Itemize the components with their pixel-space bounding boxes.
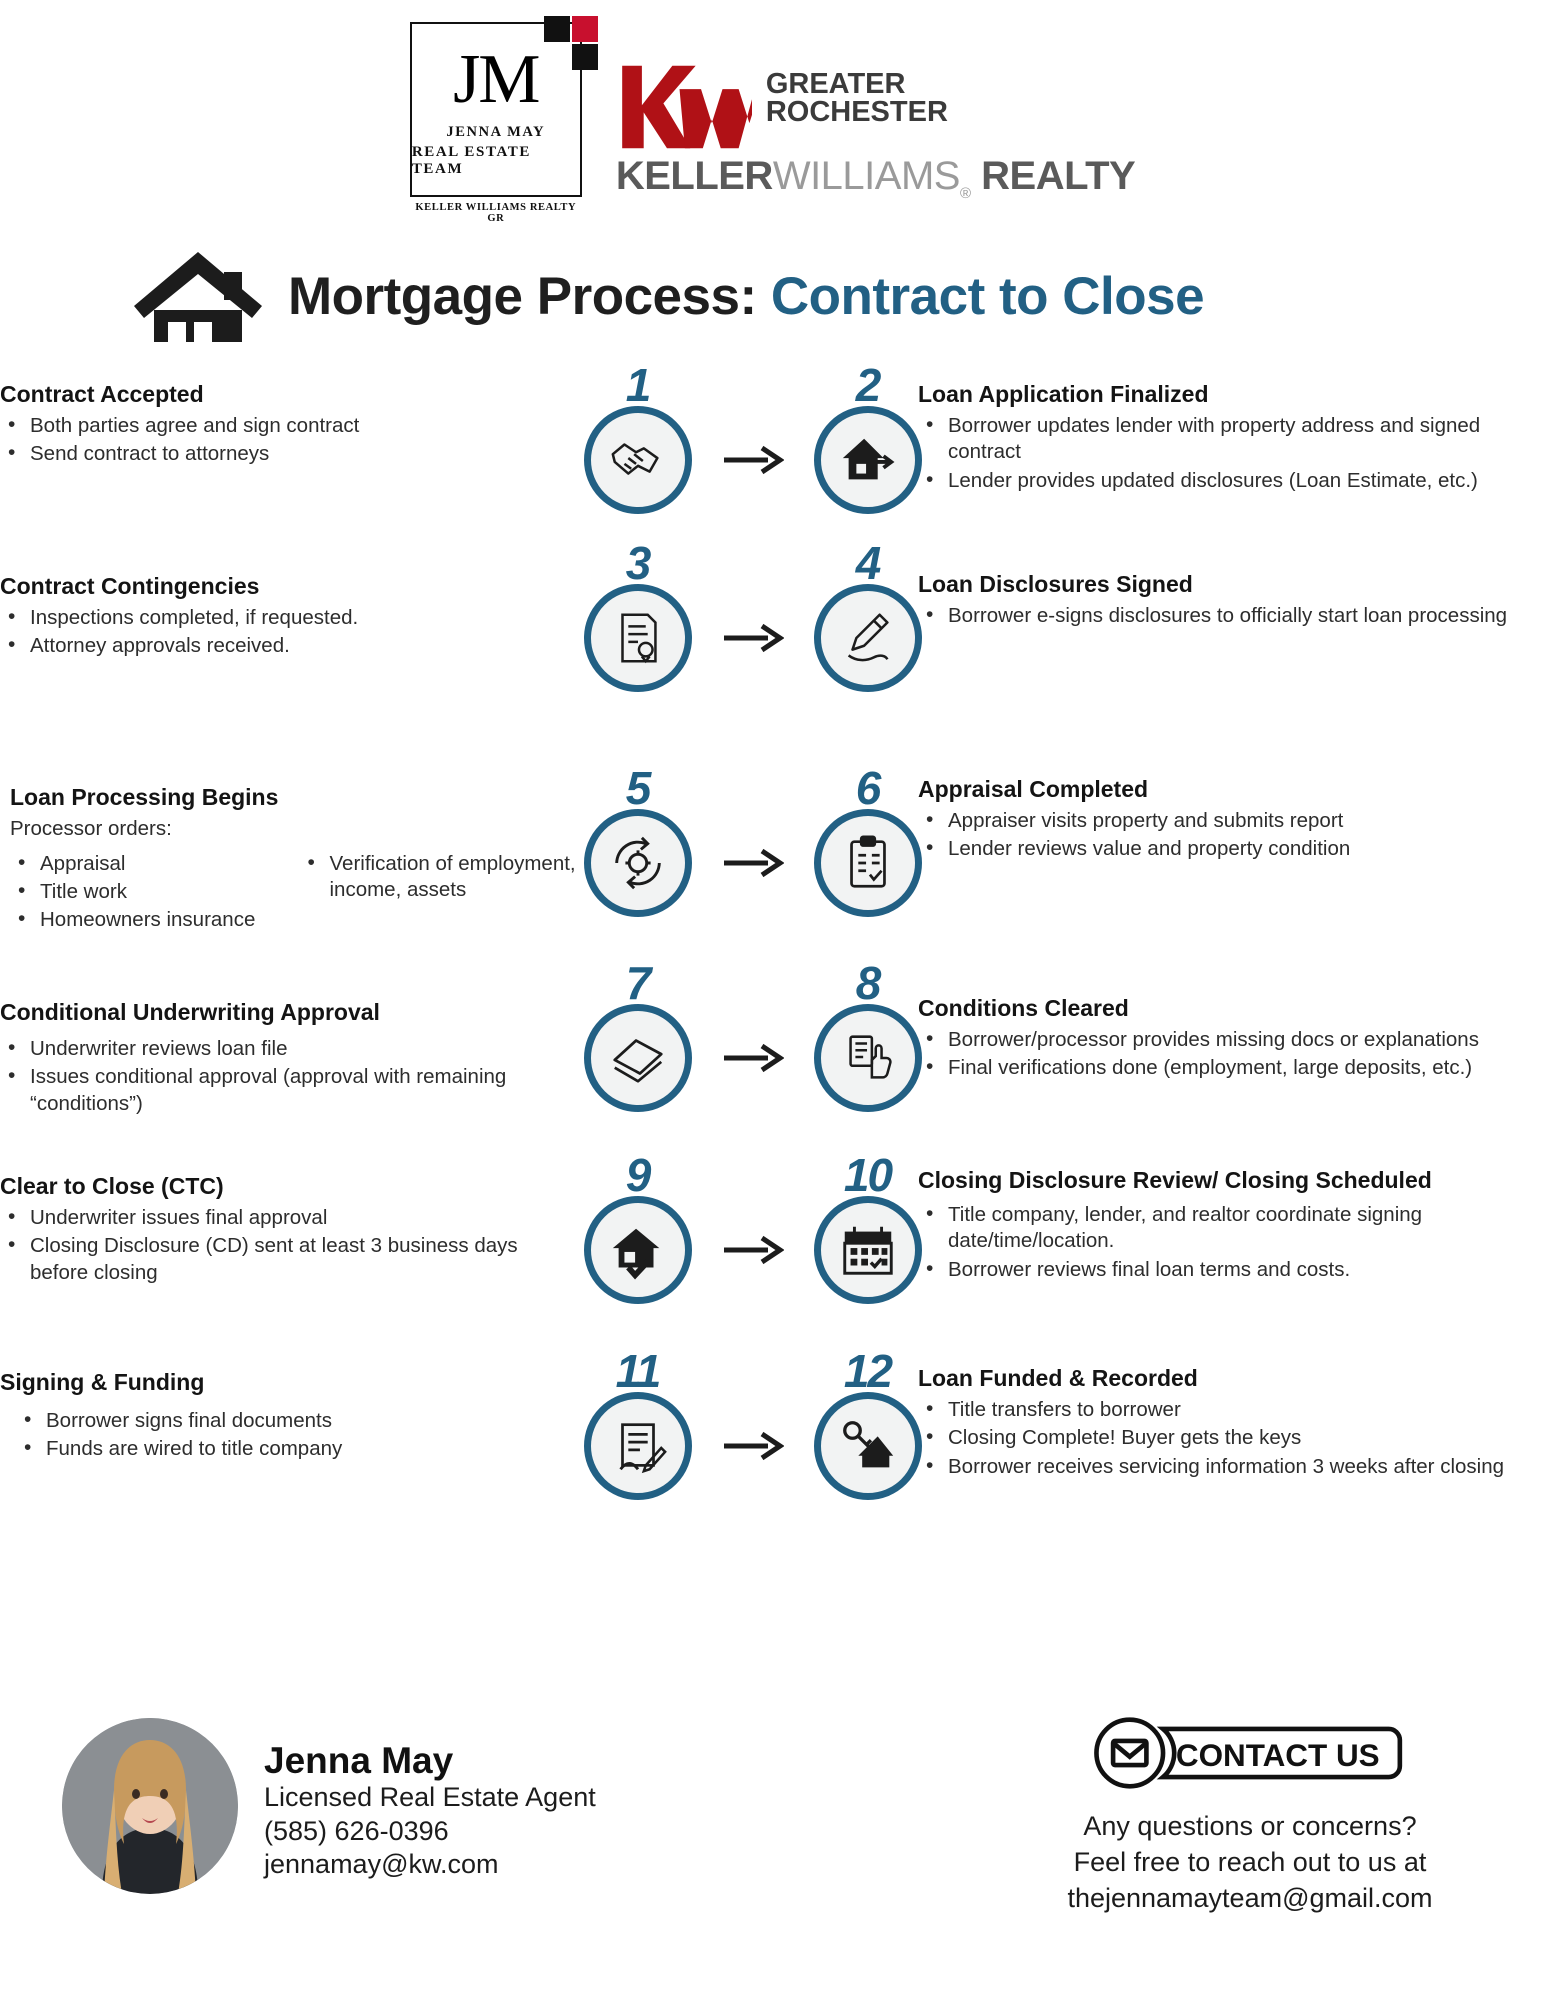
step-4-text-body: Borrower e-signs disclosures to official… [918,603,1545,629]
contact-email[interactable]: thejennamayteam@gmail.com [1015,1880,1485,1916]
step-number-9: 9 [584,1148,692,1202]
list-item: Attorney approvals received. [0,633,579,659]
list-item: Closing Complete! Buyer gets the keys [918,1425,1545,1451]
arrow-right-icon [722,1041,784,1075]
kw-registered-icon: ® [960,185,971,202]
step-row-6: Signing & Funding Borrower signs final d… [0,1350,1545,1530]
step-icons-3-4: 3 4 [595,540,910,718]
calendar-check-icon [814,1196,922,1304]
jm-logo-box: JM JENNA MAY REAL ESTATE TEAM [410,22,582,197]
logo-square-black-top [544,16,570,42]
house-arrow-icon [814,406,922,514]
clipboard-check-icon [814,809,922,917]
header-logos: JM JENNA MAY REAL ESTATE TEAM KELLER WIL… [0,22,1545,212]
step-node-10[interactable]: 10 [814,1196,922,1304]
step-icons-1-2: 1 2 [595,380,910,540]
step-11-text: Signing & Funding Borrower signs final d… [0,1350,595,1465]
step-7-heading: Conditional Underwriting Approval [0,998,579,1026]
list-item: Borrower e-signs disclosures to official… [918,603,1545,629]
contact-block: CONTACT US Any questions or concerns? Fe… [1015,1716,1485,1917]
step-5-text: Loan Processing Begins Processor orders:… [0,745,595,935]
page-title: Mortgage Process: Contract to Close [288,266,1204,327]
list-item: Title transfers to borrower [918,1397,1545,1423]
step-icons-7-8: 7 8 [595,950,910,1138]
list-item: Title work [10,879,290,905]
jm-monogram: JM [453,47,538,114]
step-node-3[interactable]: 3 [584,584,692,692]
list-item: Issues conditional approval (approval wi… [0,1064,579,1116]
step-12-text: Loan Funded & Recorded Title transfers t… [910,1350,1545,1482]
step-6-bullets: Appraiser visits property and submits re… [918,808,1545,862]
jm-logo-name: JENNA MAY [446,124,545,141]
list-item: Both parties agree and sign contract [0,413,579,439]
step-6-text: Appraisal Completed Appraiser visits pro… [910,745,1545,865]
step-10-text: Closing Disclosure Review/ Closing Sched… [910,1150,1545,1285]
step-1-bullets: Both parties agree and sign contract Sen… [0,413,579,467]
arrow-right-icon [722,621,784,655]
hand-thumbs-up-icon [814,1004,922,1112]
step-number-10: 10 [814,1148,922,1202]
list-item: Lender reviews value and property condit… [918,836,1545,862]
step-1-text: Contract Accepted Both parties agree and… [0,380,595,470]
step-row-3: Loan Processing Begins Processor orders:… [0,745,1545,950]
step-number-7: 7 [584,956,692,1010]
step-2-bullets: Borrower updates lender with property ad… [918,413,1545,494]
step-row-1: Contract Accepted Both parties agree and… [0,380,1545,540]
list-item: Appraisal [10,851,290,877]
avatar [62,1718,238,1894]
step-7-bullets: Underwriter reviews loan file Issues con… [0,1036,579,1117]
documents-stack-icon [584,1004,692,1112]
jm-logo-team: REAL ESTATE TEAM [412,144,580,178]
step-4-text: Loan Disclosures Signed Borrower e-signs… [910,540,1545,631]
kw-realty-wordmark: KELLERWILLIAMS® REALTY [616,154,1135,202]
list-item: Borrower updates lender with property ad… [918,413,1545,465]
step-5-heading: Loan Processing Begins [10,783,579,811]
step-node-4[interactable]: 4 [814,584,922,692]
house-check-icon [584,1196,692,1304]
step-3-heading: Contract Contingencies [0,572,579,600]
step-number-2: 2 [814,358,922,412]
kw-city-line2: ROCHESTER [766,98,948,126]
contract-document-icon [584,584,692,692]
list-item: Underwriter reviews loan file [0,1036,579,1062]
list-item: Borrower reviews final loan terms and co… [918,1257,1545,1283]
jm-logo-brokerage: KELLER WILLIAMS REALTY GR [410,202,582,224]
step-8-heading: Conditions Cleared [918,994,1545,1022]
step-6-heading: Appraisal Completed [918,775,1545,803]
arrow-right-icon [722,1233,784,1267]
step-number-12: 12 [814,1344,922,1398]
step-4-heading: Loan Disclosures Signed [918,570,1545,598]
step-1-heading: Contract Accepted [0,380,579,408]
step-7-text: Conditional Underwriting Approval Underw… [0,950,595,1119]
page-title-part1: Mortgage Process: [288,267,771,326]
agent-role: Licensed Real Estate Agent [264,1781,596,1814]
step-node-8[interactable]: 8 [814,1004,922,1112]
step-node-5[interactable]: 5 [584,809,692,917]
arrow-right-icon [722,443,784,477]
list-item: Title company, lender, and realtor coord… [918,1202,1545,1254]
step-10-bullets: Title company, lender, and realtor coord… [918,1202,1545,1283]
house-icon [128,248,268,344]
step-2-text: Loan Application Finalized Borrower upda… [910,380,1545,496]
step-row-2: Contract Contingencies Inspections compl… [0,540,1545,745]
step-8-text: Conditions Cleared Borrower/processor pr… [910,950,1545,1084]
contact-us-button[interactable]: CONTACT US [1015,1716,1485,1790]
step-node-6[interactable]: 6 [814,809,922,917]
kw-realty-text: REALTY [971,154,1136,198]
steps-container: Contract Accepted Both parties agree and… [0,380,1545,1530]
step-number-6: 6 [814,761,922,815]
list-item: Final verifications done (employment, la… [918,1055,1545,1081]
step-node-2[interactable]: 2 [814,406,922,514]
list-item: Lender provides updated disclosures (Loa… [918,468,1545,494]
step-icons-5-6: 5 6 [595,745,910,943]
step-12-bullets: Title transfers to borrower Closing Comp… [918,1397,1545,1480]
list-item: Borrower signs final documents [16,1408,579,1434]
step-11-heading: Signing & Funding [0,1368,579,1396]
keys-house-icon [814,1392,922,1500]
logo-square-red [572,16,598,42]
step-node-11[interactable]: 11 [584,1392,692,1500]
step-10-heading: Closing Disclosure Review/ Closing Sched… [918,1166,1545,1194]
signing-hand-icon [814,584,922,692]
page-title-row: Mortgage Process: Contract to Close [128,248,1204,344]
step-11-bullets: Borrower signs final documents Funds are… [0,1408,579,1462]
contact-us-label: CONTACT US [1176,1738,1380,1773]
step-number-4: 4 [814,536,922,590]
handshake-icon [584,406,692,514]
step-icons-11-12: 11 12 [595,1350,910,1526]
step-9-bullets: Underwriter issues final approval Closin… [0,1205,579,1286]
step-9-heading: Clear to Close (CTC) [0,1172,579,1200]
step-3-bullets: Inspections completed, if requested. Att… [0,605,579,659]
step-node-9[interactable]: 9 [584,1196,692,1304]
step-5-bullets-col2: Verification of employment, income, asse… [300,851,580,936]
step-9-text: Clear to Close (CTC) Underwriter issues … [0,1150,595,1288]
step-node-7[interactable]: 7 [584,1004,692,1112]
step-node-12[interactable]: 12 [814,1392,922,1500]
list-item: Appraiser visits property and submits re… [918,808,1545,834]
step-5-bullets-col1: Appraisal Title work Homeowners insuranc… [10,851,290,936]
arrow-right-icon [722,1429,784,1463]
list-item: Send contract to attorneys [0,441,579,467]
jenna-may-logo: JM JENNA MAY REAL ESTATE TEAM KELLER WIL… [410,22,582,224]
list-item: Funds are wired to title company [16,1436,579,1462]
list-item: Verification of employment, income, asse… [300,851,580,903]
logo-square-black-bottom [572,44,598,70]
step-row-5: Clear to Close (CTC) Underwriter issues … [0,1150,1545,1350]
agent-name: Jenna May [264,1740,596,1781]
step-8-bullets: Borrower/processor provides missing docs… [918,1027,1545,1081]
step-12-heading: Loan Funded & Recorded [918,1364,1545,1392]
agent-info: Jenna May Licensed Real Estate Agent (58… [264,1718,596,1882]
kw-city-name: GREATER ROCHESTER [766,64,948,127]
list-item: Borrower receives servicing information … [918,1454,1545,1480]
kw-williams-text: WILLIAMS [773,154,960,198]
page-title-part2: Contract to Close [771,267,1204,326]
list-item: Homeowners insurance [10,907,290,933]
gear-cycle-icon [584,809,692,917]
footer: Jenna May Licensed Real Estate Agent (58… [0,1690,1545,2000]
step-2-heading: Loan Application Finalized [918,380,1545,408]
list-item: Borrower/processor provides missing docs… [918,1027,1545,1053]
kw-mark-icon [616,64,752,150]
agent-phone[interactable]: (585) 626-0396 [264,1815,596,1848]
kw-city-line1: GREATER [766,70,948,98]
keller-williams-logo: GREATER ROCHESTER KELLERWILLIAMS® REALTY [616,22,1135,202]
list-item: Closing Disclosure (CD) sent at least 3 … [0,1233,579,1285]
step-number-1: 1 [584,358,692,412]
contact-line-1: Any questions or concerns? [1015,1808,1485,1844]
agent-email[interactable]: jennamay@kw.com [264,1848,596,1881]
infographic-page: JM JENNA MAY REAL ESTATE TEAM KELLER WIL… [0,0,1545,2000]
agent-card: Jenna May Licensed Real Estate Agent (58… [62,1718,596,1894]
step-node-1[interactable]: 1 [584,406,692,514]
step-5-subtitle: Processor orders: [10,816,579,843]
step-icons-9-10: 9 10 [595,1150,910,1330]
step-number-5: 5 [584,761,692,815]
arrow-right-icon [722,846,784,880]
step-3-text: Contract Contingencies Inspections compl… [0,540,595,662]
contact-us-badge: CONTACT US [1085,1716,1415,1790]
step-number-3: 3 [584,536,692,590]
signing-pen-icon [584,1392,692,1500]
step-number-8: 8 [814,956,922,1010]
step-row-4: Conditional Underwriting Approval Underw… [0,950,1545,1150]
list-item: Inspections completed, if requested. [0,605,579,631]
kw-keller-text: KELLER [616,154,773,198]
list-item: Underwriter issues final approval [0,1205,579,1231]
step-number-11: 11 [584,1344,692,1398]
contact-line-2: Feel free to reach out to us at [1015,1844,1485,1880]
